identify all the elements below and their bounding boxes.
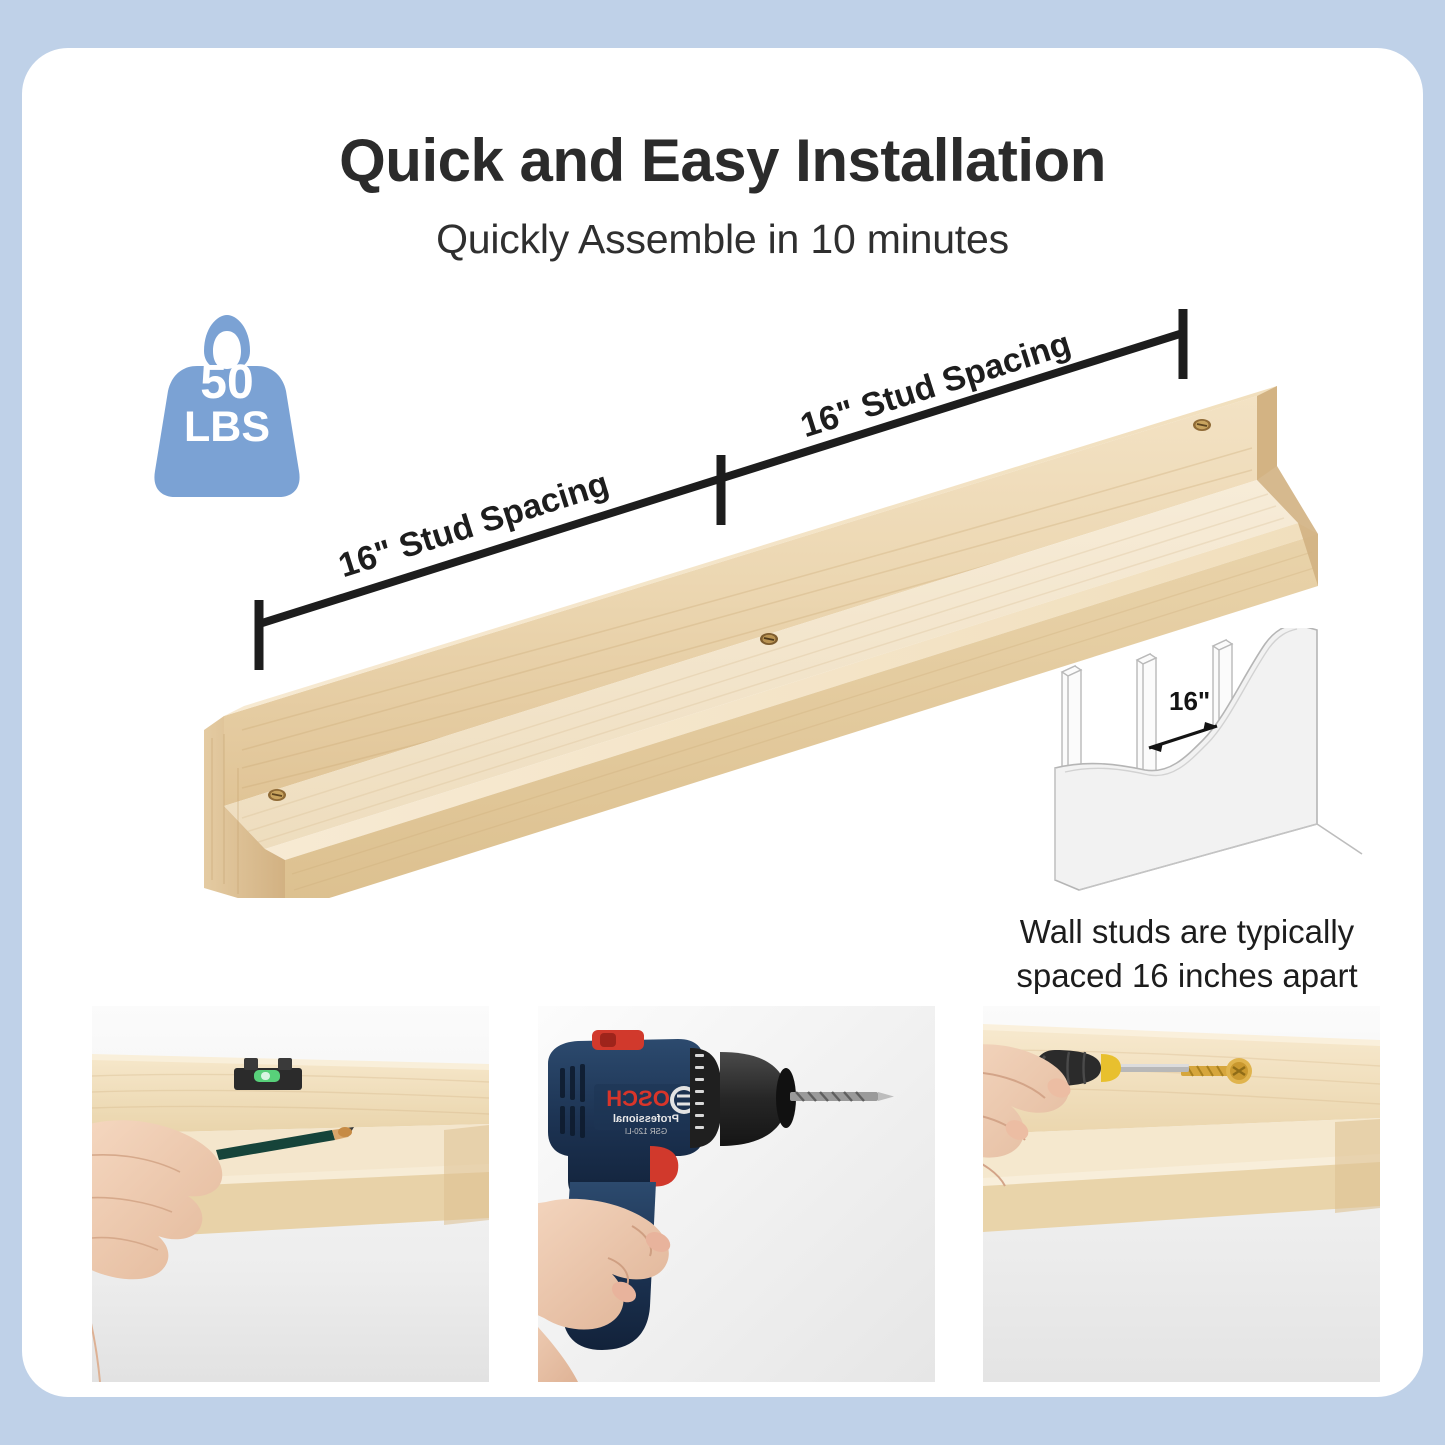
step-photo-2: BOSCH Professional GSR 120-LI [538,1006,935,1382]
caption-line-2: spaced 16 inches apart [962,954,1412,998]
hand-marking-with-pencil-photo [92,1006,489,1382]
drill-brand-sub: Professional [613,1113,679,1125]
page-subtitle: Quickly Assemble in 10 minutes [22,216,1423,263]
drill-bit-icon [790,1092,894,1101]
content-card: Quick and Easy Installation Quickly Asse… [22,48,1423,1397]
stud-diagram-caption: Wall studs are typically spaced 16 inche… [962,910,1412,998]
step-photo-1 [92,1006,489,1382]
wall-studs-cutaway-icon: 16" [1017,628,1377,908]
page-background: Quick and Easy Installation Quickly Asse… [0,0,1445,1445]
wall-studs-diagram: 16" [1017,628,1377,908]
stud-dimension-text: 16" [1169,686,1210,716]
drill-model-text: GSR 120-LI [625,1127,667,1136]
caption-line-1: Wall studs are typically [962,910,1412,954]
bosch-drill-photo: BOSCH Professional GSR 120-LI [538,1006,935,1382]
step-photo-3 [983,1006,1380,1382]
hand-screwdriver-photo [983,1006,1380,1382]
installation-steps: BOSCH Professional GSR 120-LI [92,1006,1382,1382]
page-title: Quick and Easy Installation [22,126,1423,195]
